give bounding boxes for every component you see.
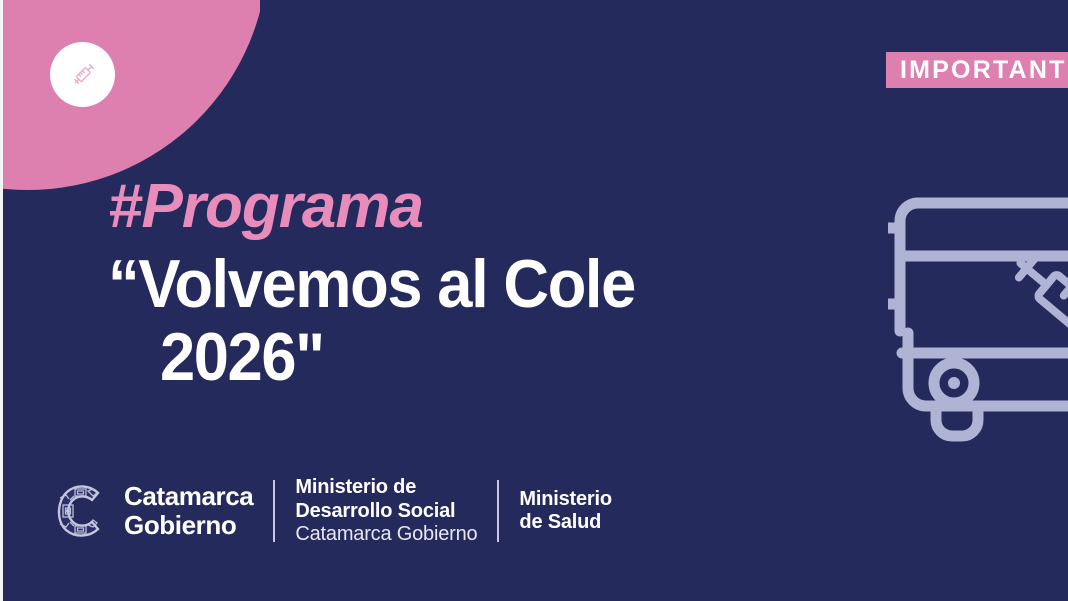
bus-illustration — [888, 148, 1068, 448]
left-edge-strip — [0, 0, 3, 601]
bus-icon — [888, 148, 1068, 448]
title-line-2: 2026" — [160, 321, 639, 394]
poster-canvas: IMPORTANTE — [0, 0, 1068, 601]
desarrollo-line-1: Ministerio de — [295, 476, 477, 499]
ministerio-desarrollo-social-logo: Ministerio de Desarrollo Social Catamarc… — [295, 476, 477, 546]
desarrollo-line-2: Desarrollo Social — [295, 500, 477, 523]
catamarca-line-1: Catamarca — [124, 482, 253, 511]
catamarca-c-emblem-icon — [52, 480, 112, 542]
salud-line-1: Ministerio — [519, 488, 611, 511]
desarrollo-line-3: Catamarca Gobierno — [295, 523, 477, 546]
syringe-badge — [50, 42, 115, 107]
title-line-1: “Volvemos al Cole — [108, 248, 635, 321]
catamarca-line-2: Gobierno — [124, 511, 253, 540]
syringe-icon — [65, 57, 101, 93]
pink-circle-decoration — [0, 0, 260, 200]
salud-line-2: de Salud — [519, 511, 611, 534]
footer-logo-bar: Catamarca Gobierno Ministerio de Desarro… — [52, 476, 612, 546]
catamarca-gobierno-logo: Catamarca Gobierno — [52, 480, 253, 542]
pink-circle-shape — [0, 0, 260, 190]
ministerio-salud-logo: Ministerio de Salud — [519, 488, 611, 534]
hashtag-text: #Programa — [108, 176, 675, 238]
important-badge: IMPORTANTE — [886, 52, 1068, 88]
headline-block: #Programa “Volvemos al Cole 2026" — [108, 176, 675, 394]
catamarca-gobierno-text: Catamarca Gobierno — [124, 482, 253, 540]
logo-divider-2 — [497, 480, 499, 542]
logo-divider-1 — [273, 480, 275, 542]
